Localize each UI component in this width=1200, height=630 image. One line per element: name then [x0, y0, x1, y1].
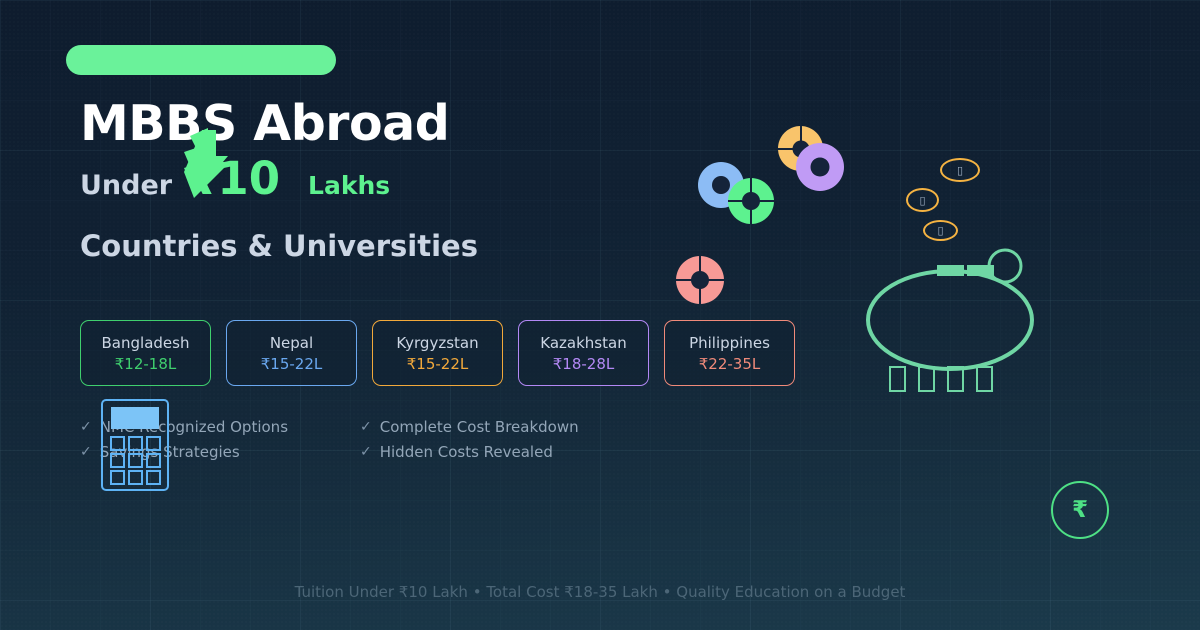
country-card[interactable]: Kazakhstan₹18-28L: [518, 320, 649, 386]
country-card-fee: ₹15-22L: [407, 355, 469, 373]
check-icon: ✓: [360, 419, 372, 435]
feature-label: Complete Cost Breakdown: [380, 418, 579, 436]
country-card[interactable]: Philippines₹22-35L: [664, 320, 795, 386]
under-label: Under: [80, 170, 172, 201]
check-icon: ✓: [80, 419, 92, 435]
country-card-fee: ₹18-28L: [553, 355, 615, 373]
country-card[interactable]: Nepal₹15-22L: [226, 320, 357, 386]
donut-hole: [691, 271, 709, 289]
ellipse-outline: [868, 271, 1032, 369]
feature-label: Hidden Costs Revealed: [380, 443, 553, 461]
footer-text: Tuition Under ₹10 Lakh • Total Cost ₹18-…: [0, 583, 1200, 601]
country-card[interactable]: Bangladesh₹12-18L: [80, 320, 211, 386]
country-card[interactable]: Kyrgyzstan₹15-22L: [372, 320, 503, 386]
oval-marker-3: ▯: [923, 220, 958, 241]
calculator-icon-svg: [101, 399, 169, 491]
oval-marker-glyph: ▯: [937, 224, 943, 237]
donut-salmon-icon: [676, 256, 724, 304]
oval-marker-glyph: ▯: [919, 194, 925, 207]
country-card-fee: ₹12-18L: [115, 355, 177, 373]
donut-hole: [742, 192, 760, 210]
oval-marker-2: ▯: [906, 188, 939, 212]
feature-item: ✓Hidden Costs Revealed: [360, 443, 640, 461]
country-card-name: Bangladesh: [102, 334, 190, 352]
country-card-name: Kyrgyzstan: [396, 334, 478, 352]
calculator-keys: [111, 437, 160, 484]
page-title: MBBS Abroad: [80, 95, 449, 152]
country-card-fee: ₹22-35L: [699, 355, 761, 373]
decorative-box: [976, 366, 993, 392]
price-amount: ₹10: [186, 156, 280, 201]
oval-marker-1: ▯: [940, 158, 980, 182]
price-subtitle: Under ₹10 Lakhs: [80, 156, 390, 201]
decorative-box: [918, 366, 935, 392]
lakhs-label: Lakhs: [308, 171, 390, 200]
oval-marker-glyph: ▯: [957, 164, 963, 177]
top-badge-pill[interactable]: [66, 45, 336, 75]
page-subtitle: Countries & Universities: [80, 229, 478, 263]
rupee-circle-badge: ₹: [1051, 481, 1109, 539]
feature-item: ✓Complete Cost Breakdown: [360, 418, 640, 436]
rupee-symbol: ₹: [1072, 497, 1088, 523]
donut-purple-icon: [796, 143, 844, 191]
country-card-name: Kazakhstan: [540, 334, 626, 352]
decorative-box: [947, 366, 964, 392]
donut-hole: [811, 158, 830, 177]
country-card-fee: ₹15-22L: [261, 355, 323, 373]
check-icon: ✓: [80, 444, 92, 460]
donut-hole: [712, 176, 730, 194]
decorative-ellipse-graphic: [862, 248, 1042, 388]
ellipse-bar-left: [937, 265, 964, 276]
calculator-display: [111, 407, 159, 429]
country-card-name: Philippines: [689, 334, 770, 352]
calculator-icon: [101, 399, 169, 491]
donut-green-icon: [728, 178, 774, 224]
decorative-box-row: [889, 366, 993, 392]
country-card-row: Bangladesh₹12-18LNepal₹15-22LKyrgyzstan₹…: [80, 320, 795, 386]
poster-canvas: ▯▯▯ ₹ MBBS Abroad Under ₹10 Lakhs Countr…: [0, 0, 1200, 630]
check-icon: ✓: [360, 444, 372, 460]
country-card-name: Nepal: [270, 334, 313, 352]
decorative-box: [889, 366, 906, 392]
